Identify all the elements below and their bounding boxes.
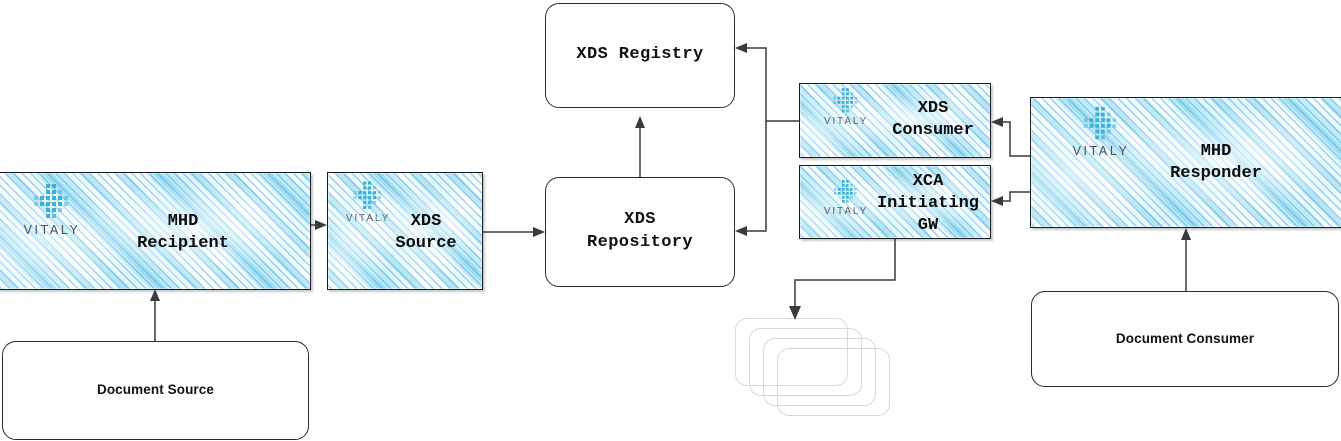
edge-xca-initiating-gw-to-document-stack: [789, 239, 895, 320]
node-xds-consumer[interactable]: VITALY XDS Consumer: [799, 83, 991, 158]
node-xds-registry-label: XDS Registry: [576, 44, 703, 67]
vitaly-logo: VITALY: [6, 181, 98, 237]
vitaly-logo: VITALY: [1055, 104, 1147, 158]
node-xca-initiating-gw[interactable]: VITALY XCA Initiating GW: [799, 165, 991, 239]
vitaly-wordmark: VITALY: [810, 117, 882, 127]
node-xds-consumer-label: XDS Consumer: [879, 98, 987, 142]
pixel-cross-icon: [832, 178, 860, 206]
edge-xds-source-to-xds-repository: [483, 227, 545, 237]
pixel-cross-icon: [831, 86, 861, 116]
node-mhd-recipient[interactable]: VITALY MHD Recipient: [0, 172, 311, 290]
vitaly-wordmark: VITALY: [6, 224, 98, 237]
node-document-source[interactable]: Document Source: [2, 341, 309, 440]
node-xds-source-label: XDS Source: [376, 211, 476, 255]
node-mhd-recipient-label: MHD Recipient: [108, 211, 258, 255]
node-xds-registry[interactable]: XDS Registry: [545, 3, 735, 108]
edge-mhd-responder-to-xds-consumer: [991, 117, 1030, 156]
edge-xds-consumer-to-xds-registry: [735, 43, 799, 121]
edge-xds-repository-to-xds-registry: [635, 116, 645, 177]
node-mhd-responder[interactable]: VITALY MHD Responder: [1030, 97, 1341, 228]
node-xds-repository[interactable]: XDS Repository: [545, 177, 735, 287]
node-document-stack[interactable]: [735, 318, 890, 416]
node-document-source-label: Document Source: [97, 381, 214, 399]
node-xca-initiating-gw-label: XCA Initiating GW: [867, 171, 989, 236]
edge-mhd-responder-to-xca-initiating-gw: [991, 192, 1030, 206]
node-document-consumer-label: Document Consumer: [1116, 330, 1254, 348]
edge-document-consumer-to-mhd-responder: [1181, 228, 1191, 291]
node-xds-source[interactable]: VITALY XDS Source: [327, 172, 483, 290]
vitaly-wordmark: VITALY: [1055, 145, 1147, 158]
document-sheet: [777, 348, 890, 416]
edge-mhd-recipient-to-xds-source: [311, 220, 327, 230]
node-mhd-responder-label: MHD Responder: [1141, 141, 1291, 185]
diagram-canvas: XDS Registry XDS Repository Document Sou…: [0, 0, 1341, 441]
edge-xds-consumer-to-xds-repository: [735, 121, 766, 236]
vitaly-logo: VITALY: [810, 86, 882, 127]
pixel-cross-icon: [351, 179, 385, 213]
node-xds-repository-label: XDS Repository: [587, 209, 693, 255]
pixel-cross-icon: [31, 181, 73, 223]
pixel-cross-icon: [1081, 104, 1121, 144]
node-document-consumer[interactable]: Document Consumer: [1031, 291, 1339, 387]
edge-document-source-to-mhd-recipient: [150, 289, 160, 341]
